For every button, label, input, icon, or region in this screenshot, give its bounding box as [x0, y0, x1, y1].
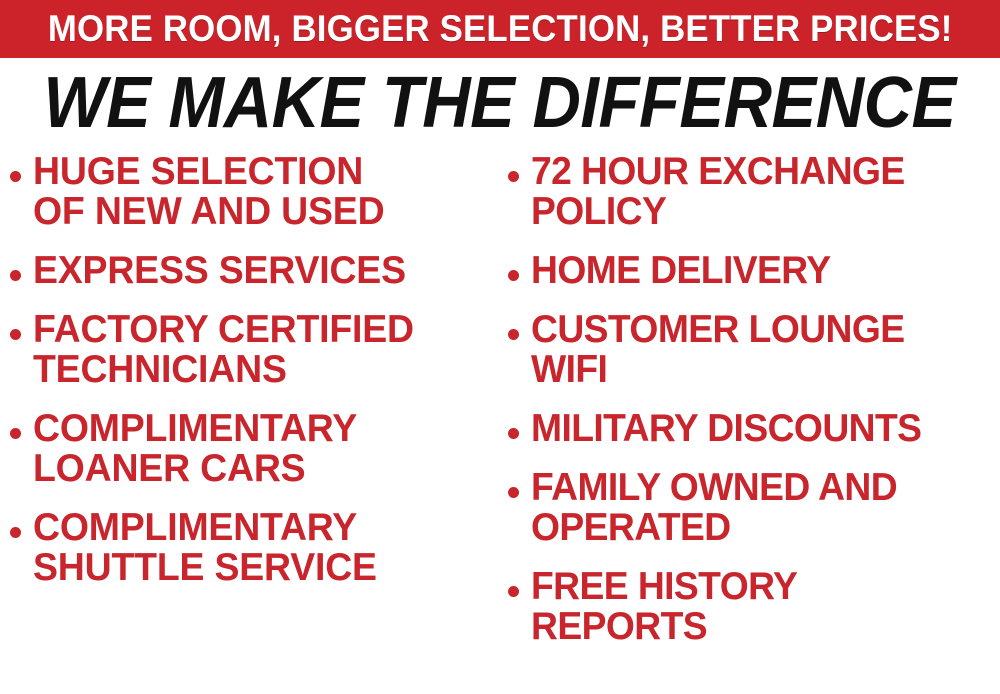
bullet-dot-icon	[10, 527, 21, 538]
bullet-dot-icon	[508, 270, 519, 281]
benefits-columns: HUGE SELECTION OF NEW AND USED EXPRESS S…	[0, 152, 1000, 694]
bullet-dot-icon	[508, 586, 519, 597]
list-item: HOME DELIVERY	[508, 251, 1000, 291]
list-item: COMPLIMENTARY LOANER CARS	[10, 409, 500, 489]
benefits-column-left: HUGE SELECTION OF NEW AND USED EXPRESS S…	[10, 152, 500, 694]
list-item: COMPLIMENTARY SHUTTLE SERVICE	[10, 508, 500, 588]
bullet-dot-icon	[10, 329, 21, 340]
benefits-column-right: 72 HOUR EXCHANGE POLICY HOME DELIVERY CU…	[508, 152, 1000, 694]
bullet-dot-icon	[508, 487, 519, 498]
list-item-label: FREE HISTORY REPORTS	[531, 567, 979, 647]
list-item: FACTORY CERTIFIED TECHNICIANS	[10, 310, 500, 390]
bullet-dot-icon	[10, 428, 21, 439]
list-item: FAMILY OWNED AND OPERATED	[508, 468, 1000, 548]
page-title: WE MAKE THE DIFFERENCE	[44, 66, 956, 140]
list-item: FREE HISTORY REPORTS	[508, 567, 1000, 647]
bullet-dot-icon	[10, 171, 21, 182]
bullet-dot-icon	[508, 171, 519, 182]
top-banner: MORE ROOM, BIGGER SELECTION, BETTER PRIC…	[0, 0, 1000, 58]
list-item-label: COMPLIMENTARY LOANER CARS	[33, 409, 481, 489]
banner-headline-text: MORE ROOM, BIGGER SELECTION, BETTER PRIC…	[48, 10, 953, 48]
list-item: 72 HOUR EXCHANGE POLICY	[508, 152, 1000, 232]
headline-container: WE MAKE THE DIFFERENCE	[0, 62, 1000, 144]
bullet-dot-icon	[10, 270, 21, 281]
list-item-label: MILITARY DISCOUNTS	[531, 409, 979, 449]
list-item-label: EXPRESS SERVICES	[33, 251, 481, 291]
list-item-label: HUGE SELECTION OF NEW AND USED	[33, 152, 481, 232]
bullet-dot-icon	[508, 329, 519, 340]
list-item: EXPRESS SERVICES	[10, 251, 500, 291]
list-item-label: COMPLIMENTARY SHUTTLE SERVICE	[33, 508, 481, 588]
list-item-label: 72 HOUR EXCHANGE POLICY	[531, 152, 979, 232]
list-item: MILITARY DISCOUNTS	[508, 409, 1000, 449]
list-item: CUSTOMER LOUNGE WIFI	[508, 310, 1000, 390]
list-item-label: CUSTOMER LOUNGE WIFI	[531, 310, 979, 390]
list-item-label: FAMILY OWNED AND OPERATED	[531, 468, 979, 548]
list-item-label: HOME DELIVERY	[531, 251, 979, 291]
promo-poster: MORE ROOM, BIGGER SELECTION, BETTER PRIC…	[0, 0, 1000, 694]
list-item-label: FACTORY CERTIFIED TECHNICIANS	[33, 310, 481, 390]
list-item: HUGE SELECTION OF NEW AND USED	[10, 152, 500, 232]
bullet-dot-icon	[508, 428, 519, 439]
